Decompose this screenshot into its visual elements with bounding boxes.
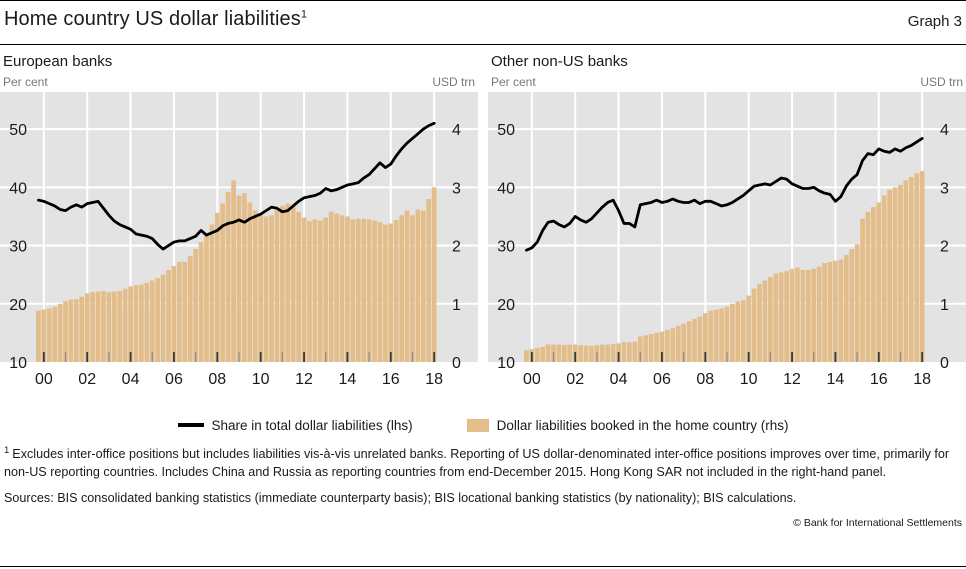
page-title-text: Home country US dollar liabilities (4, 8, 301, 30)
bar (248, 202, 253, 362)
bar (540, 347, 545, 362)
copyright-line: © Bank for International Settlements (4, 517, 962, 529)
bar (58, 304, 63, 362)
bar (784, 271, 789, 362)
bar (307, 221, 312, 362)
bar (866, 212, 871, 362)
plot-area-right: 10203040500123400020406081012141618 (488, 92, 966, 372)
ytick-label-left-20: 20 (9, 297, 27, 314)
bar (622, 342, 627, 362)
xtick-label-16: 16 (382, 371, 400, 388)
bar (361, 219, 366, 362)
xtick-label-14: 14 (827, 371, 845, 388)
ytick-label-right-3: 3 (452, 180, 461, 197)
xtick-label-00: 00 (35, 371, 53, 388)
ytick-label-left-50: 50 (9, 122, 27, 139)
bar (128, 286, 133, 362)
xtick-label-08: 08 (696, 371, 714, 388)
bar (285, 204, 290, 362)
bar (329, 212, 334, 362)
ytick-label-left-40: 40 (497, 180, 515, 197)
bar (904, 180, 909, 362)
bar (193, 249, 198, 362)
graph-number: Graph 3 (908, 6, 962, 35)
bar (719, 308, 724, 362)
bar (768, 277, 773, 362)
bar (253, 211, 258, 362)
bar (90, 292, 95, 362)
bar (822, 263, 827, 362)
footnote-text: Excludes inter-office positions but incl… (4, 447, 949, 479)
bar (649, 334, 654, 362)
bar (74, 299, 79, 362)
ytick-label-left-10: 10 (9, 355, 27, 372)
ytick-label-right-1: 1 (940, 297, 949, 314)
bar (806, 270, 811, 362)
bar (633, 342, 638, 362)
bar (269, 215, 274, 362)
bar (421, 211, 426, 362)
axis-unit-right-rhs: USD trn (920, 74, 963, 90)
bar (199, 242, 204, 362)
xtick-label-04: 04 (610, 371, 628, 388)
bar (654, 333, 659, 362)
chart-svg-left: 10203040500123400020406081012141618 (0, 92, 478, 392)
footnote: 1Excludes inter-office positions but inc… (4, 446, 962, 481)
title-rule (0, 44, 966, 45)
bar (166, 270, 171, 362)
bar (763, 280, 768, 362)
bar (145, 283, 150, 362)
bar (107, 292, 112, 362)
bar (280, 206, 285, 362)
bar (670, 328, 675, 362)
xtick-label-10: 10 (740, 371, 758, 388)
xtick-label-18: 18 (913, 371, 931, 388)
bar (188, 256, 193, 362)
bar (920, 171, 925, 362)
bar (736, 301, 741, 362)
bar (172, 266, 177, 362)
bar (426, 199, 431, 362)
bar (584, 346, 589, 362)
ytick-label-right-0: 0 (940, 355, 949, 372)
bar (101, 291, 106, 362)
ytick-label-right-2: 2 (452, 239, 461, 256)
bar (605, 345, 610, 362)
bar (134, 285, 139, 362)
xtick-label-14: 14 (339, 371, 357, 388)
bar (567, 345, 572, 362)
bar (546, 345, 551, 362)
bar (388, 223, 393, 362)
ytick-label-left-30: 30 (9, 239, 27, 256)
bar (275, 211, 280, 362)
bar (155, 278, 160, 362)
title-footnote-marker: 1 (301, 8, 307, 20)
panel-european-banks: European banks Per cent USD trn 10203040… (0, 52, 478, 397)
bar (340, 215, 345, 362)
bar (210, 225, 215, 362)
bar (752, 289, 757, 362)
bar (351, 219, 356, 362)
unit-row-right: Per cent USD trn (488, 74, 966, 92)
bar (817, 267, 822, 362)
bar (318, 221, 323, 362)
xtick-label-04: 04 (122, 371, 140, 388)
bar (378, 222, 383, 362)
bar (914, 173, 919, 362)
bar (833, 261, 838, 362)
ytick-label-right-4: 4 (940, 122, 949, 139)
legend-bar-swatch (467, 419, 489, 432)
bar (231, 180, 236, 362)
bar (562, 345, 567, 362)
axis-unit-left-rhs: USD trn (432, 74, 475, 90)
xtick-label-18: 18 (425, 371, 443, 388)
panel-other-non-us-banks: Other non-US banks Per cent USD trn 1020… (488, 52, 966, 397)
bar (367, 219, 372, 362)
bar (535, 348, 540, 362)
bar (79, 297, 84, 362)
bar (296, 212, 301, 362)
ytick-label-left-30: 30 (497, 239, 515, 256)
graph-page: Home country US dollar liabilities1 Grap… (0, 0, 966, 569)
bar (399, 215, 404, 362)
xtick-label-02: 02 (78, 371, 96, 388)
bar (849, 249, 854, 362)
bar (676, 326, 681, 362)
xtick-label-06: 06 (653, 371, 671, 388)
bar (432, 187, 437, 362)
panels-container: European banks Per cent USD trn 10203040… (0, 52, 966, 397)
ytick-label-right-2: 2 (940, 239, 949, 256)
ytick-label-right-1: 1 (452, 297, 461, 314)
bar (741, 300, 746, 362)
bar (356, 219, 361, 362)
legend-line-label: Share in total dollar liabilities (lhs) (212, 418, 413, 433)
bar (524, 350, 529, 362)
bar (611, 344, 616, 362)
bar (372, 221, 377, 362)
bar (557, 345, 562, 362)
bar (242, 193, 247, 362)
bar (334, 214, 339, 362)
panel-title-right: Other non-US banks (488, 52, 966, 74)
bar (790, 269, 795, 362)
bar (150, 280, 155, 362)
ytick-label-right-3: 3 (940, 180, 949, 197)
bar (893, 187, 898, 362)
bar (801, 270, 806, 362)
notes-block: 1Excludes inter-office positions but inc… (0, 446, 966, 529)
ytick-label-left-50: 50 (497, 122, 515, 139)
bar (345, 216, 350, 362)
bar (643, 335, 648, 362)
top-rule (0, 0, 966, 1)
ytick-label-left-10: 10 (497, 355, 515, 372)
ytick-label-left-20: 20 (497, 297, 515, 314)
bar (85, 293, 90, 362)
bar (139, 285, 144, 362)
bar (226, 192, 231, 362)
bar (698, 317, 703, 362)
bar (708, 311, 713, 362)
bar (161, 275, 166, 362)
bar (302, 218, 307, 362)
chart-legend: Share in total dollar liabilities (lhs) … (0, 412, 966, 438)
xtick-label-02: 02 (566, 371, 584, 388)
bar (779, 272, 784, 362)
ytick-label-right-4: 4 (452, 122, 461, 139)
xtick-label-12: 12 (783, 371, 801, 388)
bar (36, 311, 41, 362)
bar (692, 319, 697, 362)
bar (855, 244, 860, 362)
bar (215, 213, 220, 362)
bar (714, 310, 719, 362)
legend-bar-label: Dollar liabilities booked in the home co… (497, 418, 789, 433)
bar (96, 292, 101, 362)
bar (730, 304, 735, 362)
bar (773, 274, 778, 362)
bar (839, 260, 844, 362)
bar (687, 321, 692, 362)
bar (258, 215, 263, 362)
bar (416, 209, 421, 362)
axis-unit-right-lhs: Per cent (491, 74, 536, 90)
bar (383, 225, 388, 362)
bar (578, 345, 583, 362)
bar (394, 220, 399, 362)
bar (589, 346, 594, 362)
bar (204, 234, 209, 362)
bar (323, 218, 328, 362)
bar (871, 207, 876, 362)
bar (69, 300, 74, 362)
xtick-label-16: 16 (870, 371, 888, 388)
bar (600, 345, 605, 362)
bottom-rule (0, 566, 966, 567)
xtick-label-08: 08 (208, 371, 226, 388)
bar (898, 185, 903, 362)
sources-line: Sources: BIS consolidated banking statis… (4, 490, 962, 508)
bar (757, 284, 762, 362)
bar (882, 195, 887, 362)
plot-area-left: 10203040500123400020406081012141618 (0, 92, 478, 372)
ytick-label-left-40: 40 (9, 180, 27, 197)
ytick-label-right-0: 0 (452, 355, 461, 372)
bar (405, 211, 410, 362)
bar (795, 268, 800, 362)
bar (844, 255, 849, 362)
unit-row-left: Per cent USD trn (0, 74, 478, 92)
bar (52, 307, 57, 362)
bar (47, 308, 52, 362)
bar (291, 207, 296, 362)
bar (828, 262, 833, 362)
bar (876, 202, 881, 362)
legend-item-line: Share in total dollar liabilities (lhs) (178, 418, 413, 433)
axis-unit-left-lhs: Per cent (3, 74, 48, 90)
bar (887, 190, 892, 362)
xtick-label-00: 00 (523, 371, 541, 388)
bar (177, 262, 182, 362)
bar (410, 215, 415, 362)
bar (860, 219, 865, 362)
bar (313, 219, 318, 362)
panel-title-left: European banks (0, 52, 478, 74)
bar (182, 262, 187, 362)
page-title: Home country US dollar liabilities1 (4, 6, 307, 32)
legend-line-marker (178, 423, 204, 427)
xtick-label-12: 12 (295, 371, 313, 388)
bar (811, 269, 816, 362)
xtick-label-10: 10 (252, 371, 270, 388)
bar (264, 216, 269, 362)
bar (112, 292, 117, 362)
bar (123, 289, 128, 362)
bar (627, 342, 632, 362)
legend-item-bar: Dollar liabilities booked in the home co… (467, 418, 789, 433)
bar (117, 291, 122, 362)
graph-header: Home country US dollar liabilities1 Grap… (0, 6, 966, 44)
bar (909, 177, 914, 362)
bar (665, 330, 670, 362)
chart-svg-right: 10203040500123400020406081012141618 (488, 92, 966, 392)
xtick-label-06: 06 (165, 371, 183, 388)
